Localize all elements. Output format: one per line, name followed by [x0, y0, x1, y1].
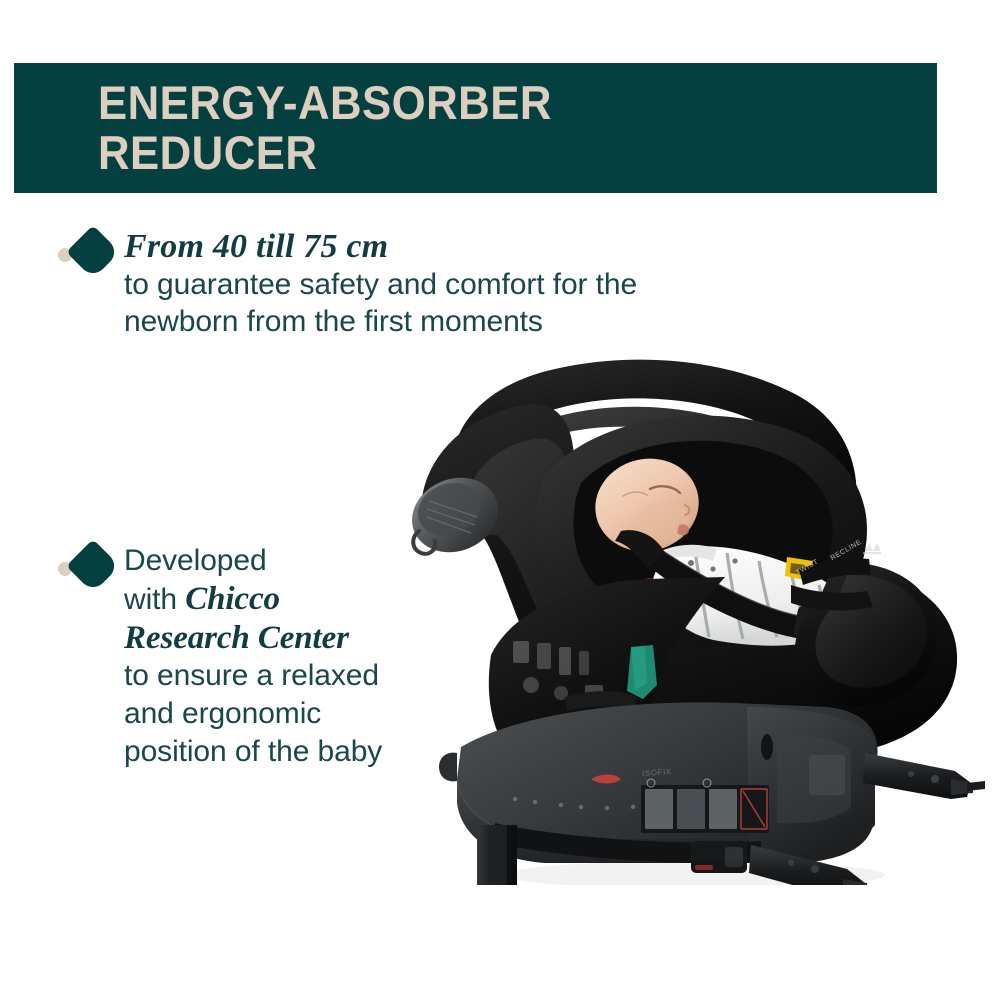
page-title: ENERGY-ABSORBER REDUCER	[98, 78, 552, 178]
feature-1-lead: From 40 till 75 cm	[124, 228, 778, 266]
feature-2-brand: Chicco	[185, 581, 280, 617]
feature-bullet-1: From 40 till 75 cm to guarantee safety a…	[58, 228, 778, 340]
bullet-marker-icon	[58, 544, 124, 592]
baby-mouth	[677, 524, 689, 535]
bullet-marker-icon	[58, 230, 124, 278]
car-seat-illustration	[395, 355, 995, 885]
feature-bullet-1-text: From 40 till 75 cm to guarantee safety a…	[124, 228, 778, 340]
feature-1-body: to guarantee safety and comfort for the …	[124, 266, 778, 340]
header-banner: ENERGY-ABSORBER REDUCER	[14, 63, 937, 193]
product-photo: TWIST RECLINE ISOFIX	[395, 355, 995, 885]
infographic-page: ENERGY-ABSORBER REDUCER From 40 till 75 …	[0, 0, 1000, 1000]
bullet-diamond-icon	[66, 539, 120, 593]
base-vent-slot	[761, 734, 773, 760]
bullet-diamond-icon	[66, 225, 120, 279]
isofix-connector-upper	[863, 753, 985, 799]
base-instruction-decal-strip	[641, 779, 769, 833]
feature-2-with: with	[124, 583, 185, 616]
